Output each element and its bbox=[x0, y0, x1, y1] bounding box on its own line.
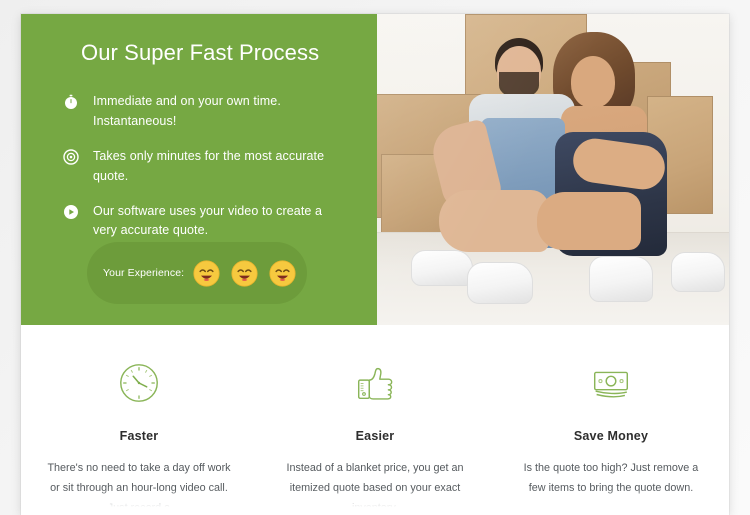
list-item-label: Takes only minutes for the most accurate… bbox=[93, 147, 329, 186]
emoji-rating-group[interactable] bbox=[193, 260, 296, 287]
features-section: Faster There's no need to take a day off… bbox=[21, 325, 729, 515]
thumbs-up-icon bbox=[279, 359, 471, 407]
experience-label: Your Experience: bbox=[103, 267, 184, 279]
list-item-label: Our software uses your video to create a… bbox=[93, 202, 329, 241]
list-item: Our software uses your video to create a… bbox=[47, 202, 351, 241]
list-item-label: Immediate and on your own time. Instanta… bbox=[93, 92, 329, 131]
feature-title: Faster bbox=[43, 429, 235, 443]
smiling-face-emoji[interactable] bbox=[269, 260, 296, 287]
target-icon bbox=[63, 149, 79, 165]
feature-card-faster: Faster There's no need to take a day off… bbox=[21, 359, 257, 515]
feature-description: There's no need to take a day off work o… bbox=[43, 459, 235, 515]
list-item: Immediate and on your own time. Instanta… bbox=[47, 92, 351, 131]
hero-photo bbox=[377, 14, 729, 325]
feature-description: Is the quote too high? Just remove a few… bbox=[515, 459, 707, 499]
smiling-face-emoji[interactable] bbox=[231, 260, 258, 287]
feature-title: Easier bbox=[279, 429, 471, 443]
photo-overlay bbox=[377, 14, 729, 325]
hero-section: Our Super Fast Process Immediate and on … bbox=[21, 14, 729, 325]
feature-card-save-money: Save Money Is the quote too high? Just r… bbox=[493, 359, 729, 515]
clock-icon bbox=[43, 359, 235, 407]
hero-content-panel: Our Super Fast Process Immediate and on … bbox=[21, 14, 377, 325]
landing-page-card: Our Super Fast Process Immediate and on … bbox=[21, 14, 729, 515]
process-bullet-list: Immediate and on your own time. Instanta… bbox=[47, 92, 351, 240]
list-item: Takes only minutes for the most accurate… bbox=[47, 147, 351, 186]
smiling-face-emoji[interactable] bbox=[193, 260, 220, 287]
stopwatch-icon bbox=[63, 94, 79, 110]
experience-rating-widget[interactable]: Your Experience: bbox=[87, 242, 307, 304]
feature-title: Save Money bbox=[515, 429, 707, 443]
play-icon bbox=[63, 204, 79, 220]
feature-description: Instead of a blanket price, you get an i… bbox=[279, 459, 471, 515]
feature-card-easier: Easier Instead of a blanket price, you g… bbox=[257, 359, 493, 515]
money-icon bbox=[515, 359, 707, 407]
page-title: Our Super Fast Process bbox=[81, 32, 351, 66]
